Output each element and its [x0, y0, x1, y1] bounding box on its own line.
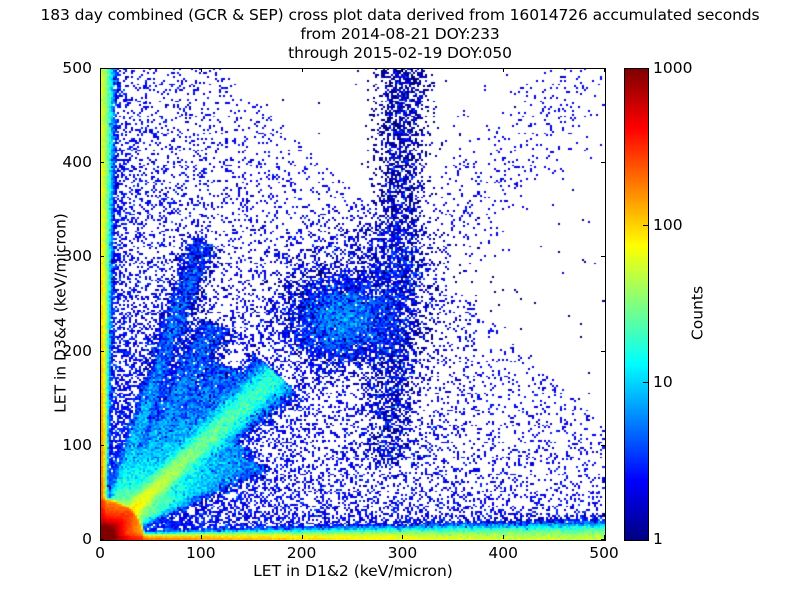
- y-tick-label: 400: [4, 153, 92, 171]
- colorbar-tick-label: 100: [653, 216, 683, 234]
- x-tick-label: 0: [95, 544, 105, 562]
- y-tick-right: [601, 539, 605, 540]
- colorbar-tick: [643, 225, 648, 226]
- x-tick-top: [302, 68, 303, 72]
- y-tick-label: 300: [4, 247, 92, 265]
- colorbar-tick-label: 10: [653, 373, 673, 391]
- y-tick-left: [100, 162, 104, 163]
- y-tick-left: [100, 351, 104, 352]
- x-tick-bottom: [503, 535, 504, 539]
- y-tick-right: [601, 68, 605, 69]
- y-tick-label: 100: [4, 436, 92, 454]
- y-tick-label: 0: [4, 530, 92, 548]
- colorbar-tick: [643, 382, 648, 383]
- plot-area[interactable]: [100, 68, 606, 541]
- x-tick-label: 100: [186, 544, 216, 562]
- x-tick-label: 200: [287, 544, 317, 562]
- density-heatmap: [101, 69, 605, 540]
- x-tick-label: 300: [388, 544, 418, 562]
- y-tick-right: [601, 256, 605, 257]
- title-line-2: from 2014-08-21 DOY:233: [0, 25, 800, 44]
- y-tick-left: [100, 445, 104, 446]
- y-tick-label: 500: [4, 59, 92, 77]
- x-tick-label: 500: [589, 544, 619, 562]
- y-axis-label: LET in D3&4 (keV/micron): [52, 77, 70, 550]
- colorbar-label: Counts: [689, 77, 707, 550]
- colorbar-gradient: [625, 69, 648, 540]
- x-tick-bottom: [201, 535, 202, 539]
- title-line-1: 183 day combined (GCR & SEP) cross plot …: [0, 6, 800, 25]
- x-axis-label: LET in D1&2 (keV/micron): [100, 562, 606, 580]
- y-tick-left: [100, 68, 104, 69]
- colorbar-tick-label: 1000: [653, 59, 692, 77]
- x-tick-top: [402, 68, 403, 72]
- x-tick-label: 400: [488, 544, 518, 562]
- x-tick-top: [201, 68, 202, 72]
- y-tick-left: [100, 256, 104, 257]
- y-tick-left: [100, 539, 104, 540]
- colorbar[interactable]: [624, 68, 649, 541]
- colorbar-tick-label: 1: [653, 530, 663, 548]
- figure-canvas: 183 day combined (GCR & SEP) cross plot …: [0, 0, 800, 600]
- y-tick-label: 200: [4, 342, 92, 360]
- x-tick-bottom: [402, 535, 403, 539]
- y-tick-right: [601, 445, 605, 446]
- x-tick-bottom: [302, 535, 303, 539]
- y-tick-right: [601, 162, 605, 163]
- x-tick-top: [503, 68, 504, 72]
- plot-title: 183 day combined (GCR & SEP) cross plot …: [0, 6, 800, 63]
- y-tick-right: [601, 351, 605, 352]
